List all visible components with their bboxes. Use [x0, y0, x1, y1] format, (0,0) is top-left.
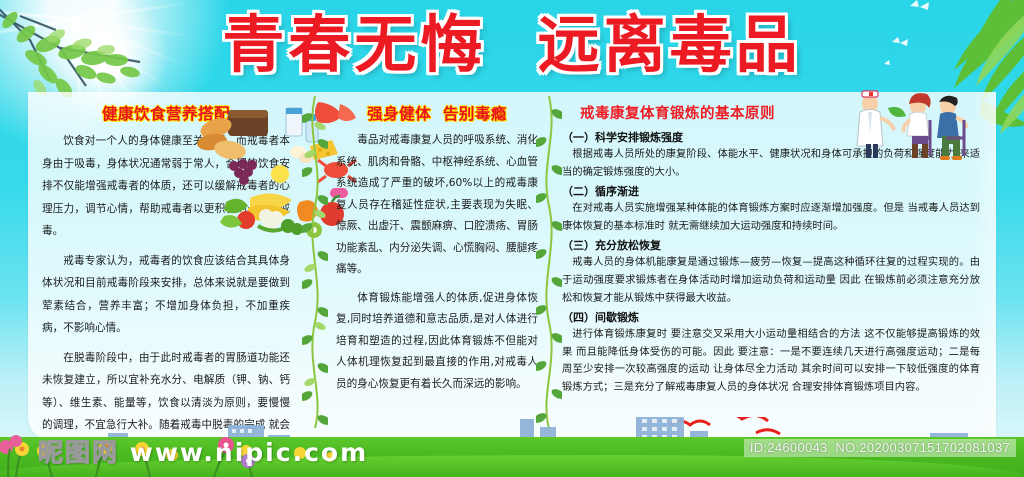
content-columns: 健康饮食营养搭配	[28, 92, 996, 442]
paragraph: 体育锻炼能增强人的体质,促进身体恢复,同时培养道德和意志品质,是对人体进行培育和…	[336, 288, 538, 396]
principle-text: 在对戒毒人员实施增强某种体能的体育锻炼方案时应逐渐增加强度。但是 当戒毒人员达到…	[562, 200, 980, 235]
column-exercise: 强身健体 告别毒瘾 毒品对戒毒康复人员的呼吸系统、消化系统、肌肉和骨骼、中枢神经…	[298, 92, 548, 442]
principle-subheading: （三）充分放松恢复	[562, 237, 980, 253]
watermark-url: www.nipic.com	[130, 438, 368, 467]
watermark-cn: 昵图网	[38, 438, 119, 467]
principle-section: （二）循序渐进 在对戒毒人员实施增强某种体能的体育锻炼方案时应逐渐增加强度。但是…	[562, 183, 980, 235]
column-nutrition-heading: 健康饮食营养搭配	[42, 102, 290, 124]
bottom-scenery: 昵图网 www.nipic.com ID:24600043 NO:2020030…	[0, 417, 1024, 477]
principle-section: （三）充分放松恢复 戒毒人员的身体机能康复是通过锻炼—疲劳—恢复—提高这种循环往…	[562, 237, 980, 307]
image-id-text: ID:24600043 NO:20200307151702081037	[744, 439, 1016, 457]
page-title: 青春无悔 远离毒品	[0, 8, 1024, 82]
column-exercise-heading: 强身健体 告别毒瘾	[336, 102, 538, 124]
site-watermark: 昵图网 www.nipic.com	[38, 433, 368, 469]
column-nutrition: 健康饮食营养搭配	[28, 92, 298, 442]
paragraph: 戒毒专家认为，戒毒者的饮食应该结合其具体身体状况和目前戒毒阶段来安排，总体来说就…	[42, 250, 290, 340]
principle-text: 进行体育锻炼康复时 要注意交叉采用大小运动量相结合的方法 这不仅能够提高锻炼的效…	[562, 326, 980, 396]
poster-canvas: 青春无悔 远离毒品 健康饮食营养搭配	[0, 0, 1024, 477]
paragraph: 毒品对戒毒康复人员的呼吸系统、消化系统、肌肉和骨骼、中枢神经系统、心血管系统造成…	[336, 130, 538, 281]
leaf-vine-divider-icon	[302, 96, 328, 428]
principle-section: （四）间歇锻炼 进行体育锻炼康复时 要注意交叉采用大小运动量相结合的方法 这不仅…	[562, 309, 980, 396]
principle-subheading: （二）循序渐进	[562, 183, 980, 199]
paragraph: 饮食对一个人的身体健康至关重要，而戒毒者本身由于吸毒，身体状况通常弱于常人，合理…	[42, 130, 290, 243]
column-principles: 戒毒康复体育锻炼的基本原则 （一）科学安排锻炼强度 根据戒毒人员所处的康复阶段、…	[548, 92, 996, 442]
nurse-and-patients-icon	[848, 86, 988, 164]
principle-text: 戒毒人员的身体机能康复是通过锻炼—疲劳—恢复—提高这种循环往复的过程实现的。由于…	[562, 254, 980, 307]
principle-subheading: （四）间歇锻炼	[562, 309, 980, 325]
